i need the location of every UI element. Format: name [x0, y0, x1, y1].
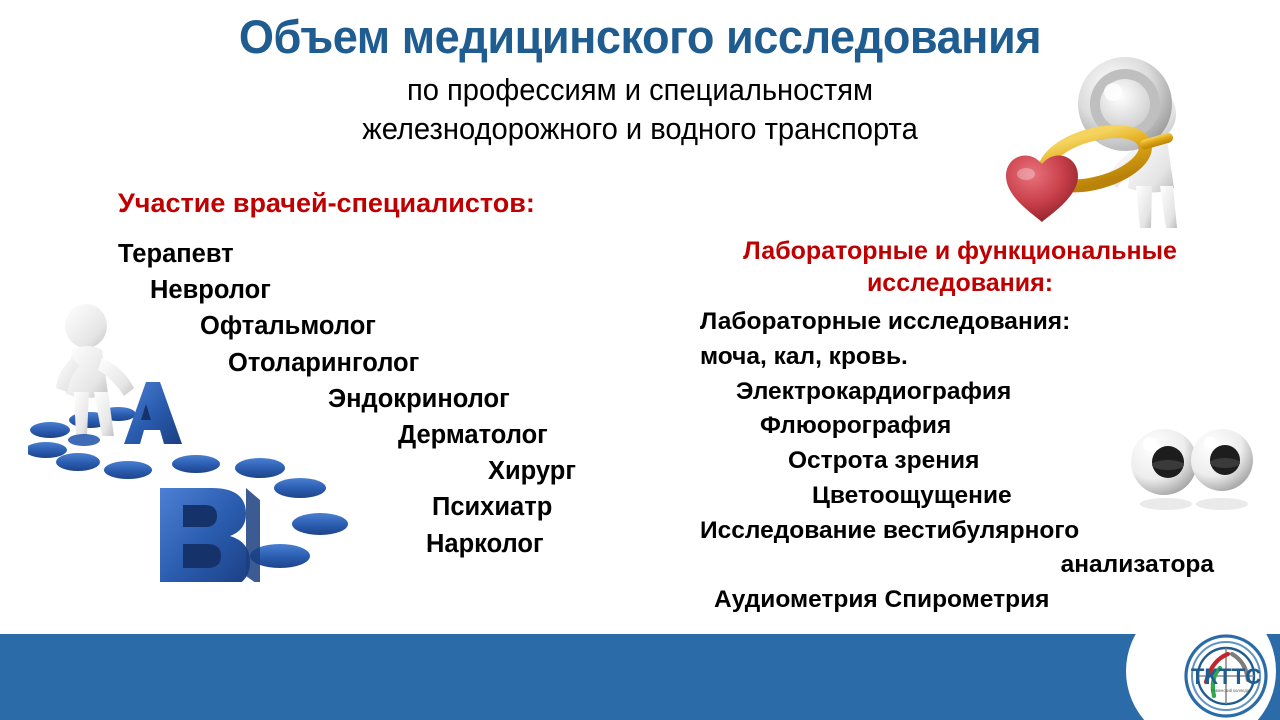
footer-bar: ТКТТС Тюменский колледж — [0, 634, 1280, 720]
list-item: моча, кал, кровь. — [700, 340, 1220, 375]
list-item: Эндокринолог — [118, 381, 663, 417]
list-item: Психиатр — [118, 489, 663, 525]
slide: Объем медицинского исследования по профе… — [0, 0, 1280, 720]
list-item: Электрокардиография — [700, 375, 1220, 410]
tests-heading-line-2: исследования: — [867, 269, 1053, 297]
list-item: Невролог — [118, 272, 663, 308]
list-item: Аудиометрия Спирометрия — [700, 583, 1220, 618]
specialists-heading: Участие врачей-специалистов: — [118, 188, 535, 219]
title-block: Объем медицинского исследования по профе… — [0, 12, 1280, 149]
specialists-list: Терапевт Невролог Офтальмолог Отоларинго… — [118, 236, 663, 562]
list-item: Офтальмолог — [118, 308, 663, 344]
list-item: Острота зрения — [700, 444, 1220, 479]
list-item: Отоларинголог — [118, 345, 663, 381]
list-item: Терапевт — [118, 236, 663, 272]
list-item: Нарколог — [118, 526, 663, 562]
list-item: Цветоощущение — [700, 479, 1220, 514]
logo-text: ТКТТС — [1191, 664, 1261, 689]
list-item: Исследование вестибулярного — [700, 514, 1220, 549]
list-item: Дерматолог — [118, 417, 663, 453]
tests-heading-line-1: Лабораторные и функциональные — [743, 237, 1177, 265]
college-logo: ТКТТС Тюменский колледж — [1184, 634, 1268, 718]
tests-list: Лабораторные исследования: моча, кал, кр… — [700, 305, 1220, 618]
heart-icon — [1006, 155, 1078, 222]
list-item: Лабораторные исследования: — [700, 305, 1220, 340]
list-item: Флюорография — [700, 409, 1220, 444]
logo-subtext: Тюменский колледж — [1210, 688, 1249, 693]
list-item: анализатора — [700, 548, 1220, 583]
tests-heading: Лабораторные и функциональные исследован… — [700, 236, 1220, 299]
subtitle-line-2: железнодорожного и водного транспорта — [38, 109, 1241, 149]
subtitle-line-1: по профессиям и специальностям — [38, 70, 1241, 110]
page-title: Объем медицинского исследования — [26, 12, 1255, 62]
list-item: Хирург — [118, 453, 663, 489]
